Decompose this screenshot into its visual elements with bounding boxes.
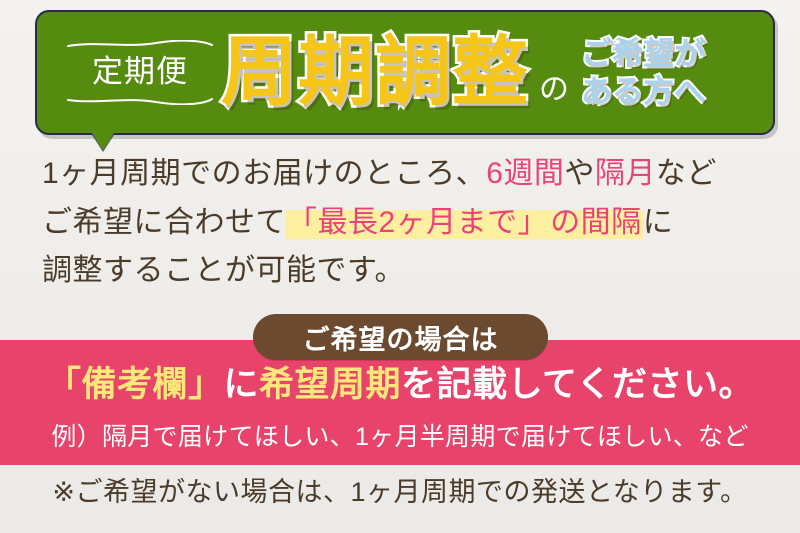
- footer-note: ※ご希望がない場合は、1ヶ月周期での発送となります。: [0, 478, 800, 508]
- body-line-2-highlight-interval: の間隔: [549, 206, 643, 239]
- body-line-1: 1ヶ月周期でのお届けのところ、6週間や隔月など: [42, 150, 772, 199]
- wish-line-2: ある方へ: [581, 74, 705, 110]
- header-speech-bubble: 定期便 周期調整 の ご希望が ある方へ: [35, 10, 775, 135]
- body-paragraph: 1ヶ月周期でのお届けのところ、6週間や隔月など ご希望に合わせて「最長2ヶ月まで…: [42, 150, 772, 296]
- title-particle: の: [539, 38, 569, 108]
- pink-text-d: を記載してください。: [401, 365, 754, 404]
- pink-accent-desired-cycle: 希望周期: [259, 365, 401, 404]
- pink-text-b: に: [224, 365, 260, 404]
- body-line-1-text-c: や: [564, 157, 595, 190]
- wish-line-1: ご希望が: [581, 36, 705, 72]
- body-line-3: 調整することが可能です。: [42, 247, 772, 296]
- body-line-1-accent-bimonthly: 隔月: [595, 157, 656, 190]
- status-badge-label: ご希望の場合は: [303, 318, 499, 357]
- wish-callout: ご希望が ある方へ: [581, 36, 705, 109]
- speech-bubble-tail: [92, 133, 114, 150]
- subscription-label-group: 定期便: [65, 40, 215, 104]
- body-line-1-text-e: など: [656, 157, 717, 190]
- body-line-2-text-a: ご希望に合わせて: [42, 206, 286, 239]
- body-line-1-accent-6weeks: 6週間: [486, 157, 564, 190]
- body-line-2: ご希望に合わせて「最長2ヶ月まで」の間隔に: [42, 199, 772, 248]
- promotional-banner: 定期便 周期調整 の ご希望が ある方へ 1ヶ月周期でのお届けのところ、6週間や…: [0, 0, 800, 533]
- wavy-line-top-icon: [66, 40, 214, 49]
- wavy-line-bottom-icon: [66, 96, 214, 105]
- page-title: 周期調整: [221, 35, 529, 111]
- subscription-label: 定期便: [92, 49, 188, 95]
- pink-band-headline: 「備考欄」に希望周期を記載してください。: [0, 366, 800, 405]
- body-line-2-highlight-duration: 「最長2ヶ月まで」: [286, 206, 549, 239]
- body-line-1-text-a: 1ヶ月周期でのお届けのところ、: [42, 157, 486, 190]
- pink-accent-remarks-field: 「備考欄」: [46, 365, 224, 404]
- header-content-row: 定期便 周期調整 の ご希望が ある方へ: [37, 12, 773, 133]
- status-badge: ご希望の場合は: [253, 314, 548, 360]
- body-line-2-text-d: に: [643, 206, 674, 239]
- pink-band-example: 例）隔月で届けてほしい、1ヶ月半周期で届けてほしい、など: [0, 424, 800, 452]
